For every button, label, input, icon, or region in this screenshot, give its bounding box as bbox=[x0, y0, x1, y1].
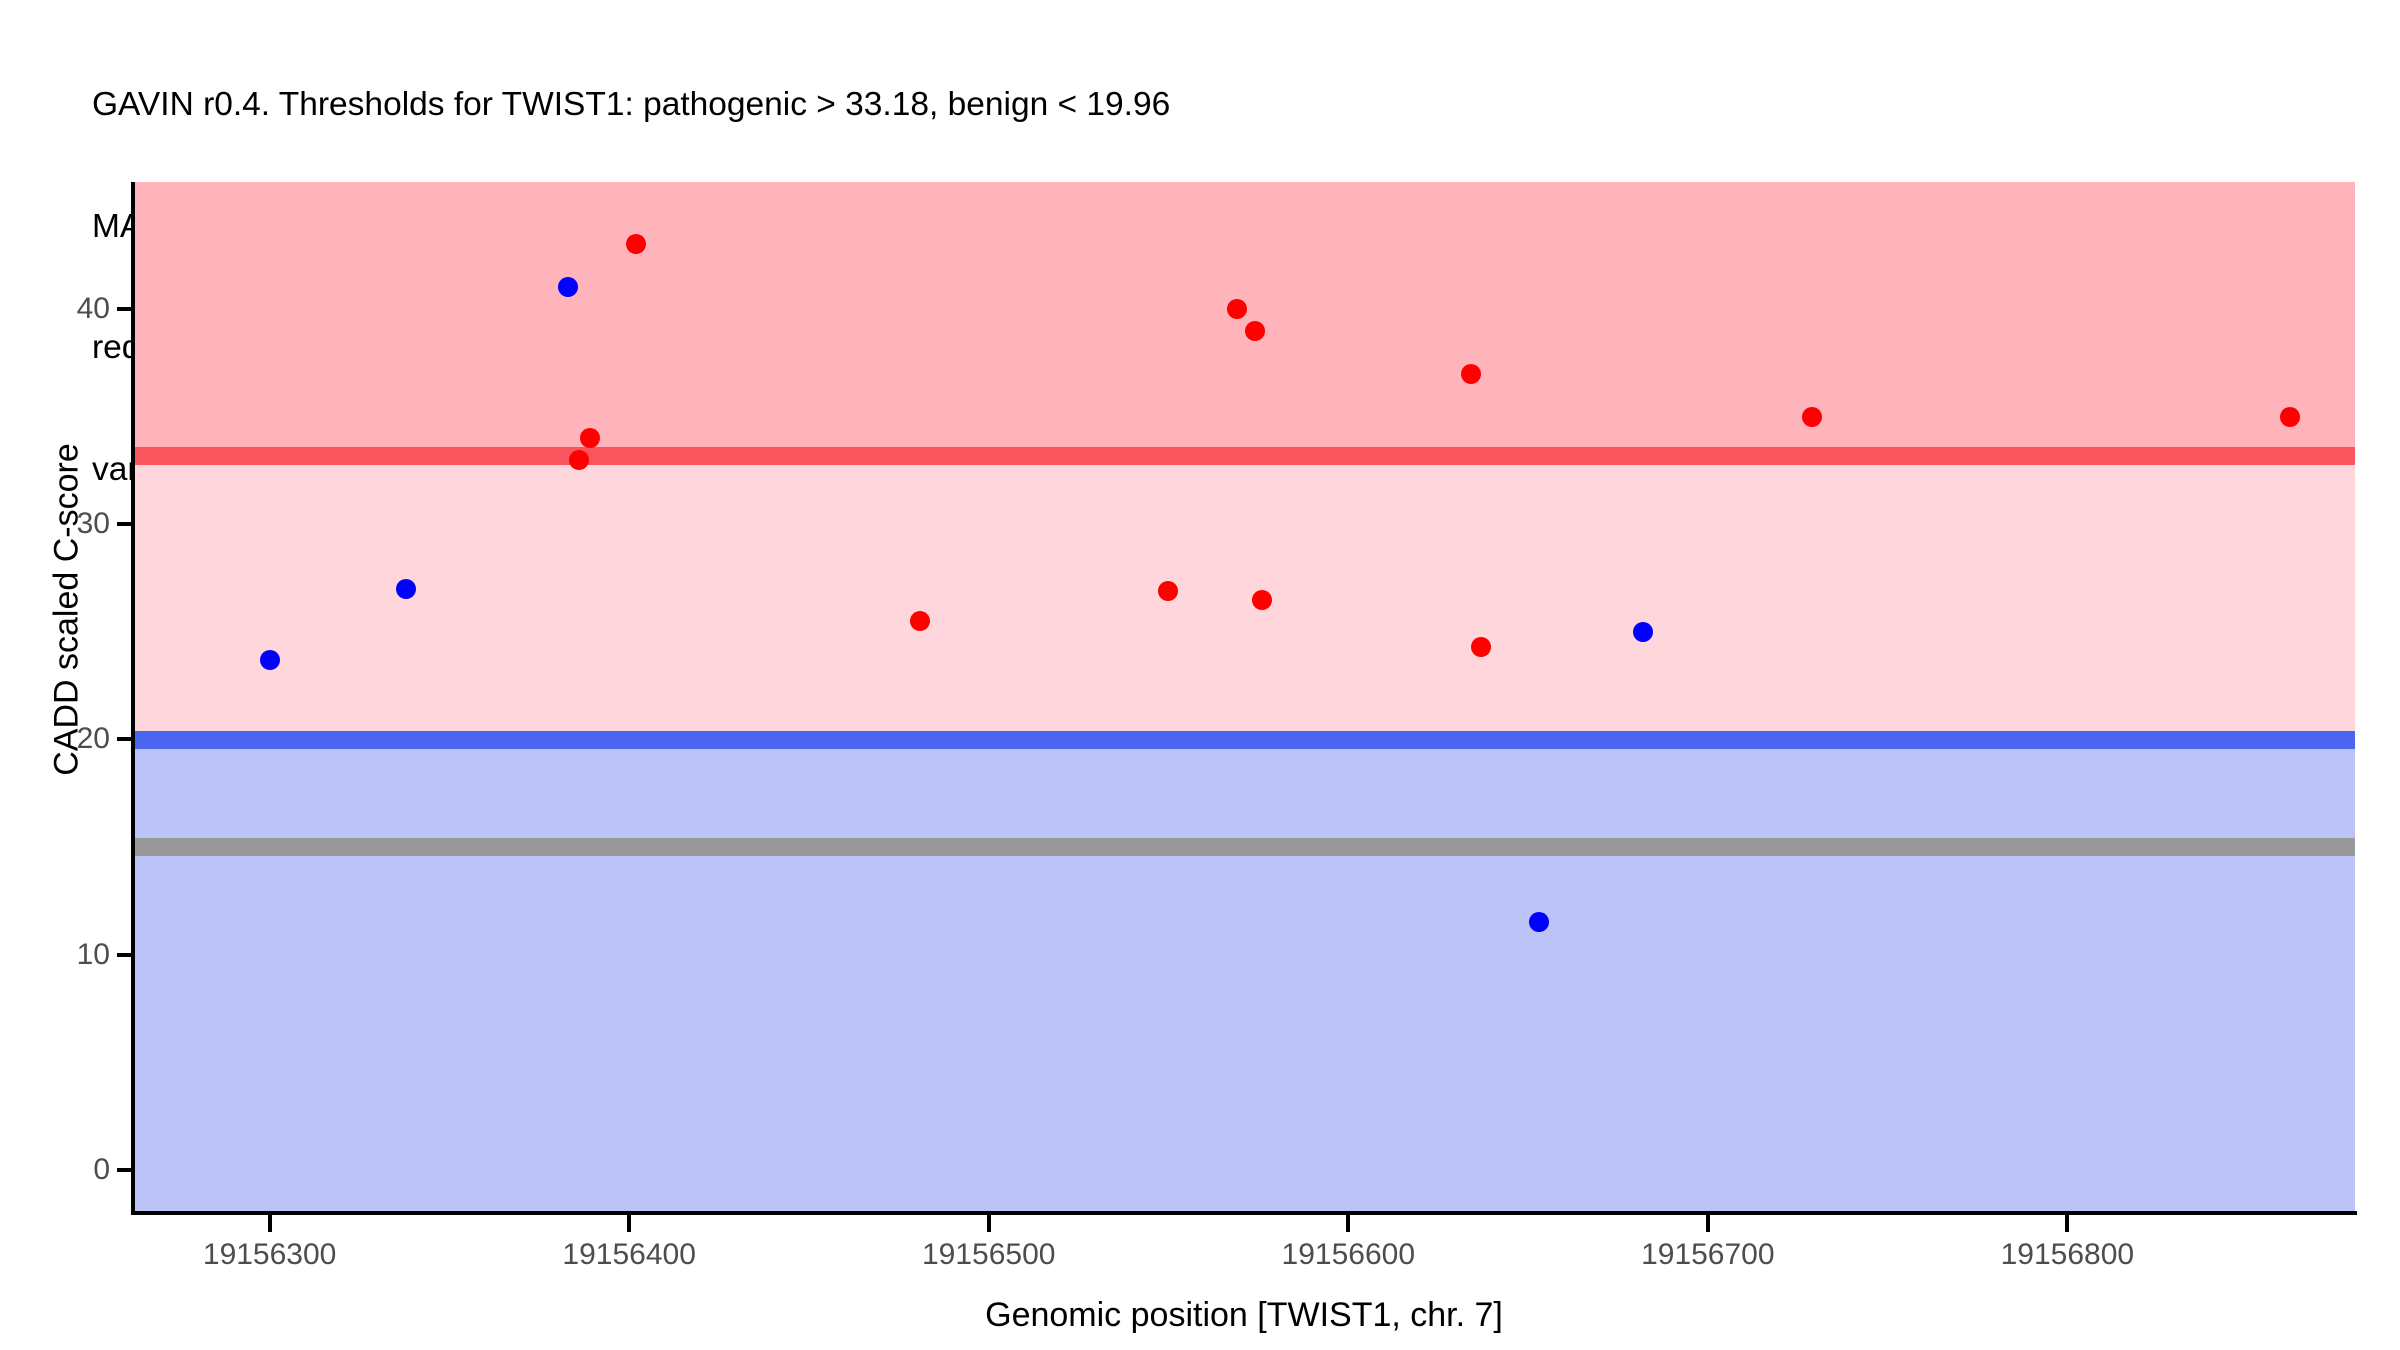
x-tick-label: 19156500 bbox=[922, 1238, 1055, 1272]
genome-wide-fallback-line bbox=[133, 838, 2355, 856]
data-point[interactable] bbox=[260, 650, 280, 670]
x-tick-label: 19156800 bbox=[2001, 1238, 2134, 1272]
plot-title-line-1: GAVIN r0.4. Thresholds for TWIST1: patho… bbox=[92, 85, 2342, 126]
data-point[interactable] bbox=[1471, 637, 1491, 657]
data-point[interactable] bbox=[558, 277, 578, 297]
band-benign bbox=[133, 740, 2355, 1213]
y-tick-label: 0 bbox=[30, 1153, 110, 1187]
x-tick bbox=[2065, 1215, 2069, 1232]
plot-figure: GAVIN r0.4. Thresholds for TWIST1: patho… bbox=[0, 0, 2400, 1350]
data-point[interactable] bbox=[569, 450, 589, 470]
x-tick bbox=[627, 1215, 631, 1232]
plot-panel bbox=[133, 182, 2355, 1213]
x-tick bbox=[1706, 1215, 1710, 1232]
data-point[interactable] bbox=[1529, 912, 1549, 932]
data-point[interactable] bbox=[580, 428, 600, 448]
data-point[interactable] bbox=[1633, 622, 1653, 642]
data-point[interactable] bbox=[2280, 407, 2300, 427]
y-tick bbox=[117, 1168, 134, 1172]
band-vous bbox=[133, 456, 2355, 741]
x-tick-label: 19156300 bbox=[203, 1238, 336, 1272]
x-axis-title: Genomic position [TWIST1, chr. 7] bbox=[133, 1296, 2355, 1335]
x-axis-line bbox=[131, 1211, 2357, 1215]
data-point[interactable] bbox=[910, 611, 930, 631]
y-tick bbox=[117, 737, 134, 741]
x-tick-label: 19156600 bbox=[1282, 1238, 1415, 1272]
data-point[interactable] bbox=[1245, 321, 1265, 341]
y-axis-title: CADD scaled C-score bbox=[48, 210, 87, 1010]
x-tick bbox=[987, 1215, 991, 1232]
x-tick bbox=[1346, 1215, 1350, 1232]
x-tick-label: 19156700 bbox=[1641, 1238, 1774, 1272]
y-axis-line bbox=[131, 182, 135, 1215]
y-tick bbox=[117, 522, 134, 526]
data-point[interactable] bbox=[1461, 364, 1481, 384]
band-pathogenic bbox=[133, 182, 2355, 456]
y-tick bbox=[117, 953, 134, 957]
pathogenic-threshold-line bbox=[133, 447, 2355, 465]
data-point[interactable] bbox=[1227, 299, 1247, 319]
data-point[interactable] bbox=[1158, 581, 1178, 601]
data-point[interactable] bbox=[626, 234, 646, 254]
y-tick bbox=[117, 307, 134, 311]
data-point[interactable] bbox=[1252, 590, 1272, 610]
data-point[interactable] bbox=[1802, 407, 1822, 427]
x-tick-label: 19156400 bbox=[562, 1238, 695, 1272]
x-tick bbox=[268, 1215, 272, 1232]
benign-threshold-line bbox=[133, 731, 2355, 749]
data-point[interactable] bbox=[396, 579, 416, 599]
